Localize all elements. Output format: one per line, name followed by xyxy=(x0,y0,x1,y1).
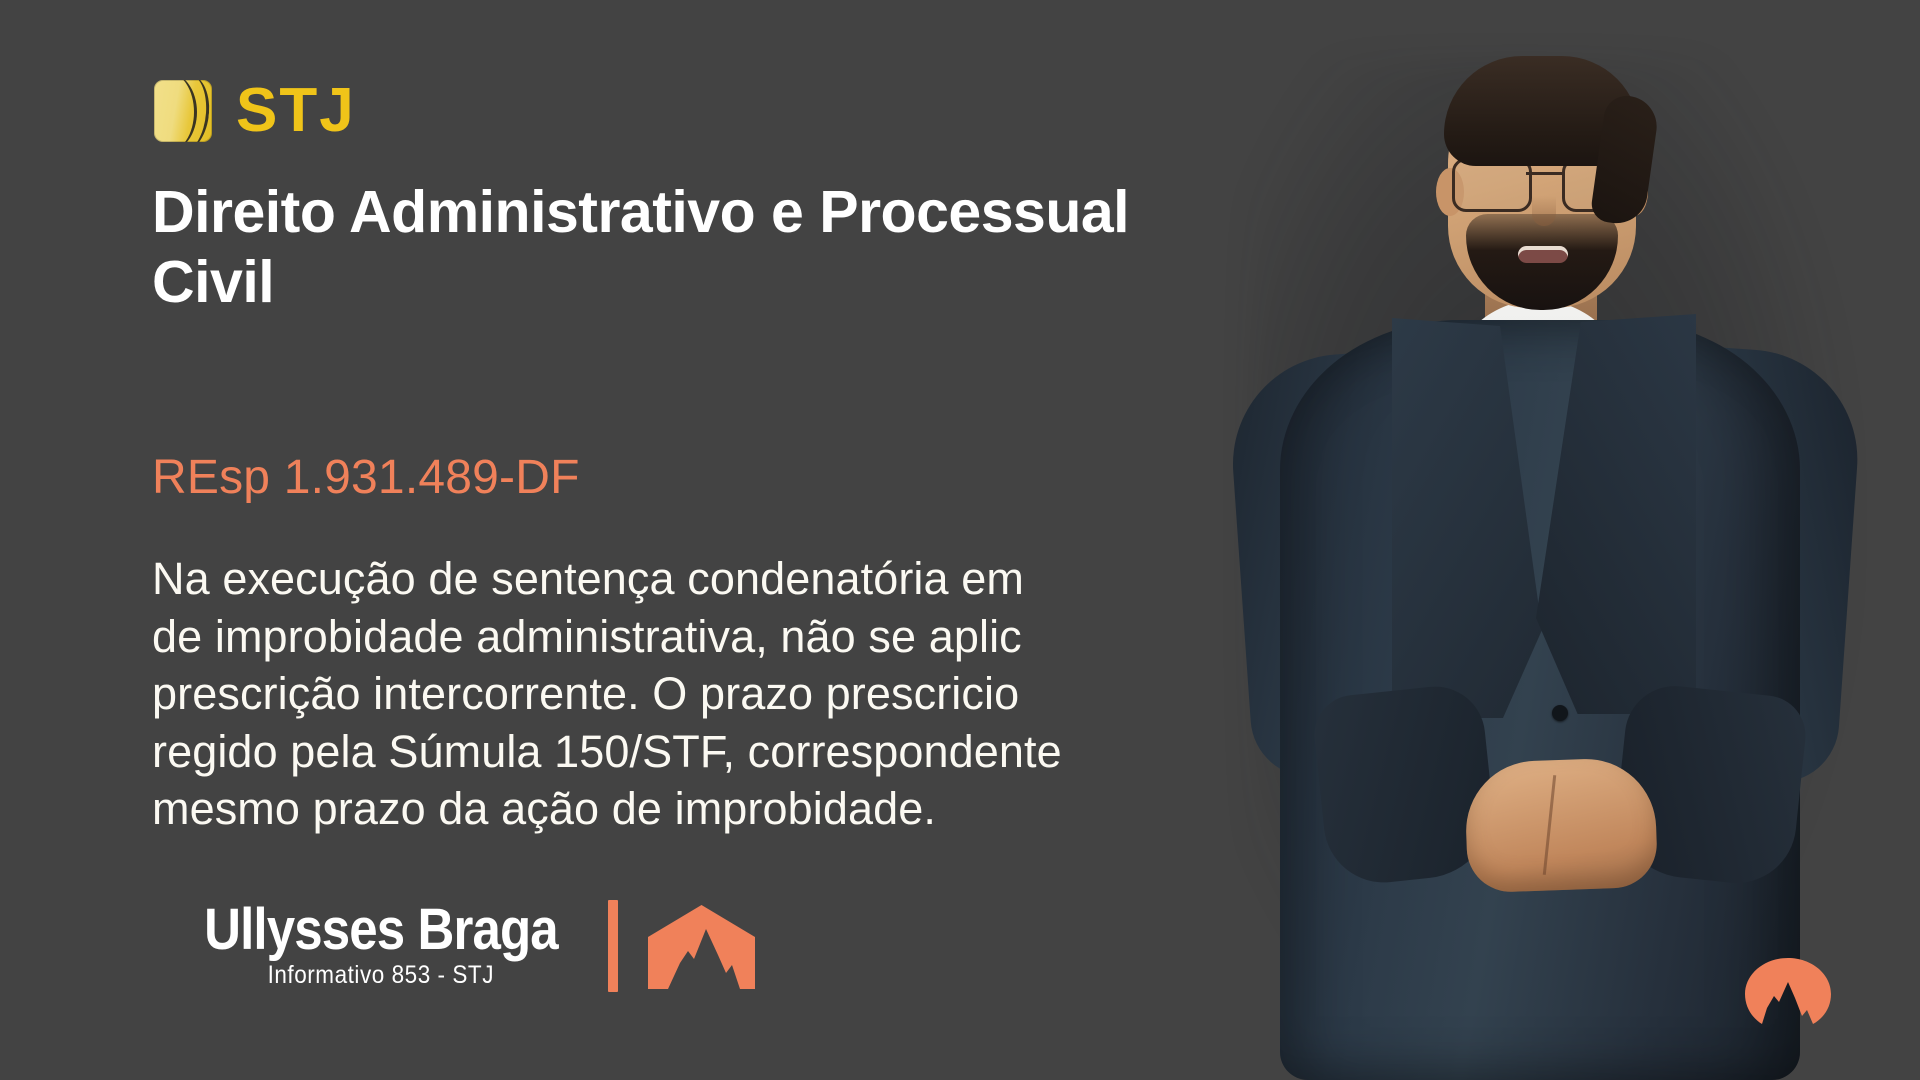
stj-book-mark-icon xyxy=(154,80,212,142)
glasses-bridge xyxy=(1526,172,1564,175)
page-title: Direito Administrativo e Processual Civi… xyxy=(152,178,1172,317)
summary-line: de improbidade administrativa, não se ap… xyxy=(152,608,1252,666)
summary-line: regido pela Súmula 150/STF, corresponden… xyxy=(152,723,1252,781)
case-reference-label: REsp 1.931.489-DF xyxy=(152,450,580,505)
glasses-lens-left xyxy=(1452,158,1532,212)
circular-mountain-watermark-icon xyxy=(1745,958,1831,1030)
summary-line: Na execução de sentença condenatória em xyxy=(152,550,1252,608)
presenter-video xyxy=(1180,0,1920,1080)
summary-line: mesmo prazo da ação de improbidade. xyxy=(152,780,1252,838)
slide-canvas: STJ Direito Administrativo e Processual … xyxy=(0,0,1920,1080)
summary-line: prescrição intercorrente. O prazo prescr… xyxy=(152,665,1252,723)
mountain-logo-icon xyxy=(644,903,759,989)
footer-brand-text: Ullysses Braga Informativo 853 - STJ xyxy=(180,902,582,991)
court-brand-row: STJ xyxy=(154,80,356,142)
presenter-blazer-button xyxy=(1552,705,1568,721)
footer-brand-lockup: Ullysses Braga Informativo 853 - STJ xyxy=(180,900,759,992)
presenter-mouth xyxy=(1518,246,1568,263)
vertical-bar-divider-icon xyxy=(608,900,618,992)
summary-text-block: Na execução de sentença condenatória em … xyxy=(152,550,1252,838)
footer-brand-subtitle: Informativo 853 - STJ xyxy=(268,961,494,990)
presenter-hands xyxy=(1464,757,1658,894)
stj-acronym-label: STJ xyxy=(236,80,356,142)
footer-brand-name: Ullysses Braga xyxy=(204,902,558,958)
